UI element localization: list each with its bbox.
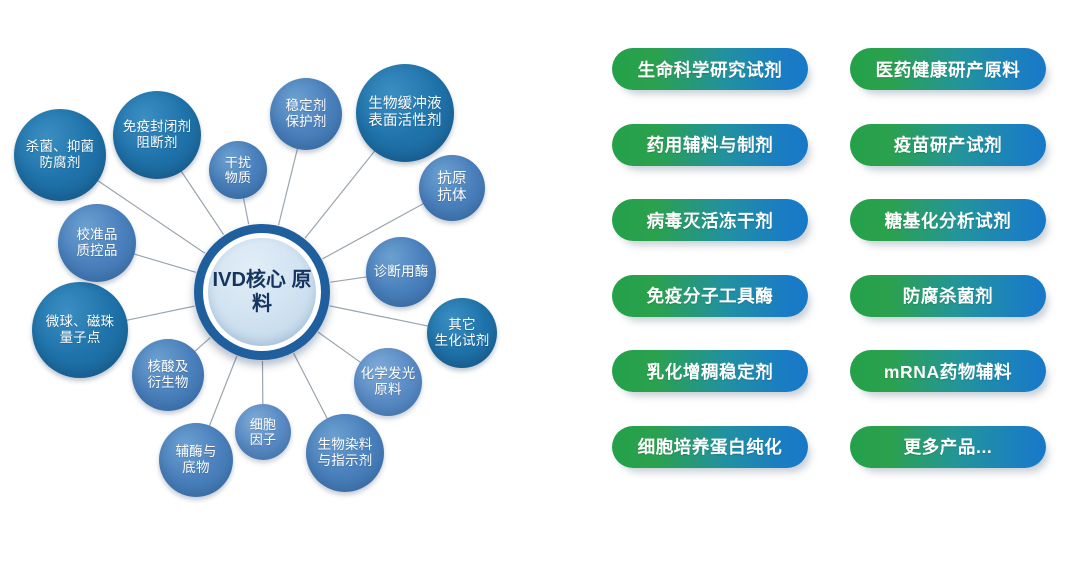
node-coenzyme[interactable]: 辅酶与底物	[159, 423, 233, 497]
node-label-line: 化学发光	[358, 366, 419, 382]
pill-label: 更多产品...	[904, 434, 993, 459]
spoke-line	[279, 148, 298, 225]
spoke-line	[330, 277, 367, 282]
node-label-line: 杀菌、抑菌	[23, 139, 98, 155]
hub-core: IVD核心 原料	[208, 238, 316, 346]
node-label-line: 量子点	[43, 330, 118, 346]
node-label-line: 原料	[358, 382, 419, 398]
node-diagnostic-enzyme[interactable]: 诊断用酶	[366, 237, 436, 307]
node-cytokine[interactable]: 细胞因子	[235, 404, 291, 460]
node-label-line: 保护剂	[282, 114, 329, 130]
node-label-line: 阻断剂	[120, 135, 195, 151]
node-label-line: 免疫封闭剂	[120, 119, 195, 135]
product-category-pill[interactable]: 疫苗研产试剂	[850, 124, 1046, 166]
node-label-line: 因子	[247, 432, 279, 447]
node-label-line: 诊断用酶	[371, 264, 432, 280]
node-stabilizer[interactable]: 稳定剂保护剂	[270, 78, 342, 150]
spoke-line	[209, 356, 237, 426]
node-label-line: 核酸及	[144, 359, 191, 375]
node-label-line: 表面活性剂	[365, 113, 445, 130]
node-biobuffer[interactable]: 生物缓冲液表面活性剂	[356, 64, 454, 162]
node-label-line: 抗原	[434, 171, 469, 188]
pill-label: 病毒灭活冻干剂	[647, 208, 774, 233]
node-label-line: 生物缓冲液	[365, 96, 445, 113]
node-label-line: 生化试剂	[432, 333, 493, 349]
pill-label: 疫苗研产试剂	[894, 132, 1003, 157]
spoke-line	[318, 332, 361, 363]
pill-label: mRNA药物辅料	[884, 359, 1012, 384]
spoke-line	[243, 197, 248, 224]
pill-label: 生命科学研究试剂	[638, 57, 783, 82]
node-label-line: 生物染料	[315, 437, 376, 453]
hub-label-line1: IVD核心	[213, 269, 286, 291]
node-label-line: 其它	[432, 317, 493, 333]
node-label-line: 与指示剂	[315, 453, 376, 469]
product-category-pill[interactable]: 乳化增稠稳定剂	[612, 350, 808, 392]
node-label-line: 防腐剂	[23, 155, 98, 171]
pill-label: 细胞培养蛋白纯化	[638, 434, 783, 459]
product-category-pill[interactable]: 糖基化分析试剂	[850, 199, 1046, 241]
node-calibrator[interactable]: 校准品质控品	[58, 204, 136, 282]
node-label-line: 稳定剂	[282, 98, 329, 114]
product-category-pill[interactable]: 免疫分子工具酶	[612, 275, 808, 317]
node-label-line: 干扰	[222, 155, 254, 170]
node-label-line: 质控品	[73, 243, 120, 259]
ivd-hub-spoke-diagram: IVD核心 原料 杀菌、抑菌防腐剂免疫封闭剂阻断剂干扰物质稳定剂保护剂生物缓冲液…	[0, 0, 560, 562]
node-label-line: 物质	[222, 170, 254, 185]
node-immune-blocker[interactable]: 免疫封闭剂阻断剂	[113, 91, 201, 179]
product-category-pill[interactable]: 防腐杀菌剂	[850, 275, 1046, 317]
node-label-line: 辅酶与	[172, 444, 219, 460]
spoke-line	[294, 353, 328, 419]
node-label-line: 校准品	[73, 227, 120, 243]
product-category-list: 生命科学研究试剂医药健康研产原料药用辅料与制剂疫苗研产试剂病毒灭活冻干剂糖基化分…	[612, 48, 1064, 496]
product-category-pill[interactable]: 医药健康研产原料	[850, 48, 1046, 90]
spoke-line	[330, 306, 429, 326]
product-category-pill[interactable]: mRNA药物辅料	[850, 350, 1046, 392]
product-category-pill[interactable]: 更多产品...	[850, 426, 1046, 468]
node-interferent[interactable]: 干扰物质	[209, 141, 267, 199]
product-category-pill[interactable]: 药用辅料与制剂	[612, 124, 808, 166]
pill-label: 防腐杀菌剂	[903, 283, 994, 308]
pill-label: 乳化增稠稳定剂	[647, 359, 774, 384]
node-microsphere[interactable]: 微球、磁珠量子点	[32, 282, 128, 378]
product-category-pill[interactable]: 细胞培养蛋白纯化	[612, 426, 808, 468]
product-category-pill[interactable]: 病毒灭活冻干剂	[612, 199, 808, 241]
infographic-canvas: IVD核心 原料 杀菌、抑菌防腐剂免疫封闭剂阻断剂干扰物质稳定剂保护剂生物缓冲液…	[0, 0, 1080, 562]
spoke-line	[133, 254, 195, 273]
spoke-line	[194, 338, 210, 352]
hub-node[interactable]: IVD核心 原料	[194, 224, 330, 360]
node-label-line: 衍生物	[144, 375, 191, 391]
node-antigen-antibody[interactable]: 抗原抗体	[419, 155, 485, 221]
node-sterilize[interactable]: 杀菌、抑菌防腐剂	[14, 109, 106, 201]
pill-label: 医药健康研产原料	[876, 57, 1021, 82]
node-nucleic-acid[interactable]: 核酸及衍生物	[132, 339, 204, 411]
node-other-biochem[interactable]: 其它生化试剂	[427, 298, 497, 368]
product-category-pill[interactable]: 生命科学研究试剂	[612, 48, 808, 90]
pill-label: 免疫分子工具酶	[647, 283, 774, 308]
node-chemiluminescent[interactable]: 化学发光原料	[354, 348, 422, 416]
node-label-line: 微球、磁珠	[43, 314, 118, 330]
node-label-line: 底物	[172, 460, 219, 476]
node-label-line: 细胞	[247, 417, 279, 432]
spoke-line	[126, 306, 194, 320]
pill-label: 药用辅料与制剂	[647, 132, 774, 157]
node-label-line: 抗体	[434, 188, 469, 205]
pill-label: 糖基化分析试剂	[885, 208, 1012, 233]
node-biostain[interactable]: 生物染料与指示剂	[306, 414, 384, 492]
spoke-line	[305, 151, 375, 239]
